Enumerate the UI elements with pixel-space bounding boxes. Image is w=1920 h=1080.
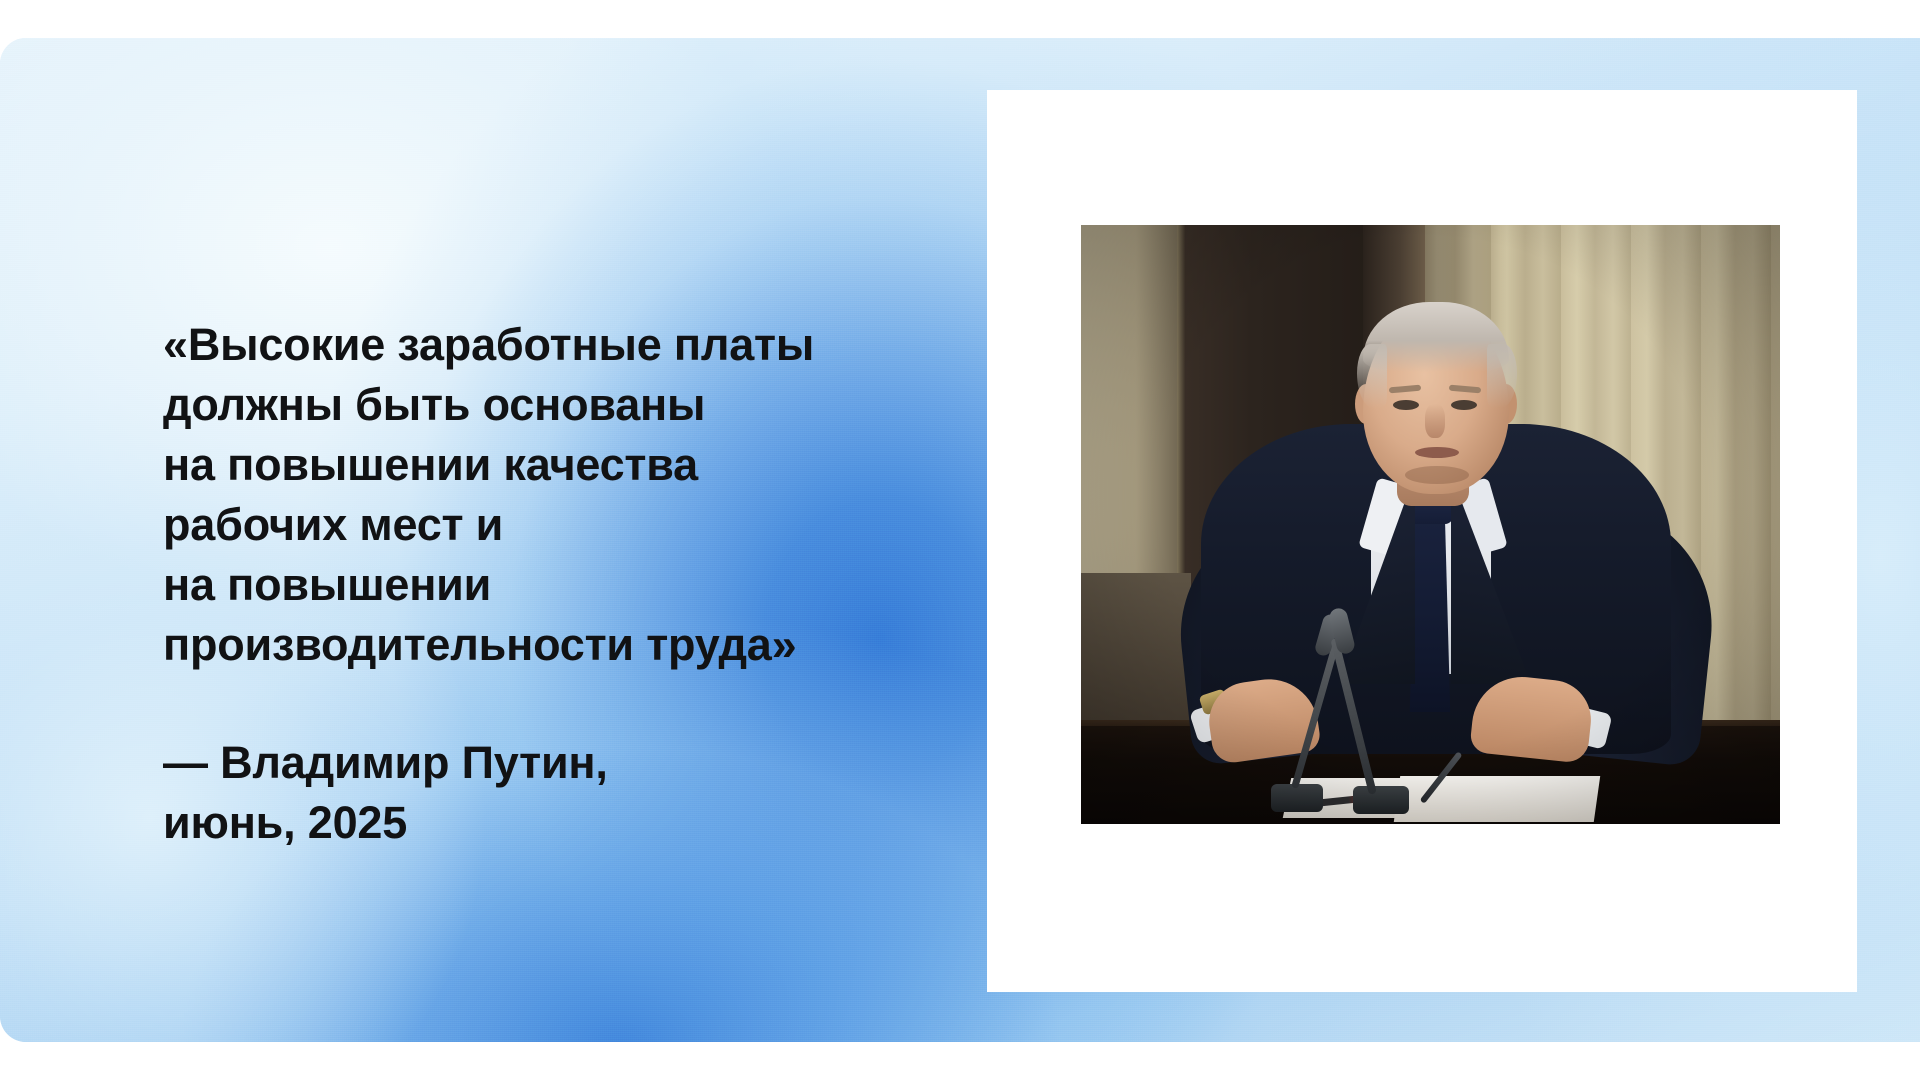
quote-line-4: рабочих мест и [163,495,863,555]
quote-line-5: на повышении [163,555,863,615]
slide-canvas: «Высокие заработные платы должны быть ос… [0,38,1920,1042]
quote-line-1: «Высокие заработные платы [163,315,863,375]
attribution-author: — Владимир Путин, [163,733,863,793]
quote-text-block: «Высокие заработные платы должны быть ос… [163,315,863,675]
photo-card [987,90,1857,992]
portrait-photo [1081,225,1780,824]
attribution-date: июнь, 2025 [163,793,863,853]
quote-line-2: должны быть основаны [163,375,863,435]
photo-vignette [1081,225,1780,824]
quote-attribution-block: — Владимир Путин, июнь, 2025 [163,733,863,853]
quote-line-3: на повышении качества [163,435,863,495]
quote-line-6: производительности труда» [163,615,863,675]
